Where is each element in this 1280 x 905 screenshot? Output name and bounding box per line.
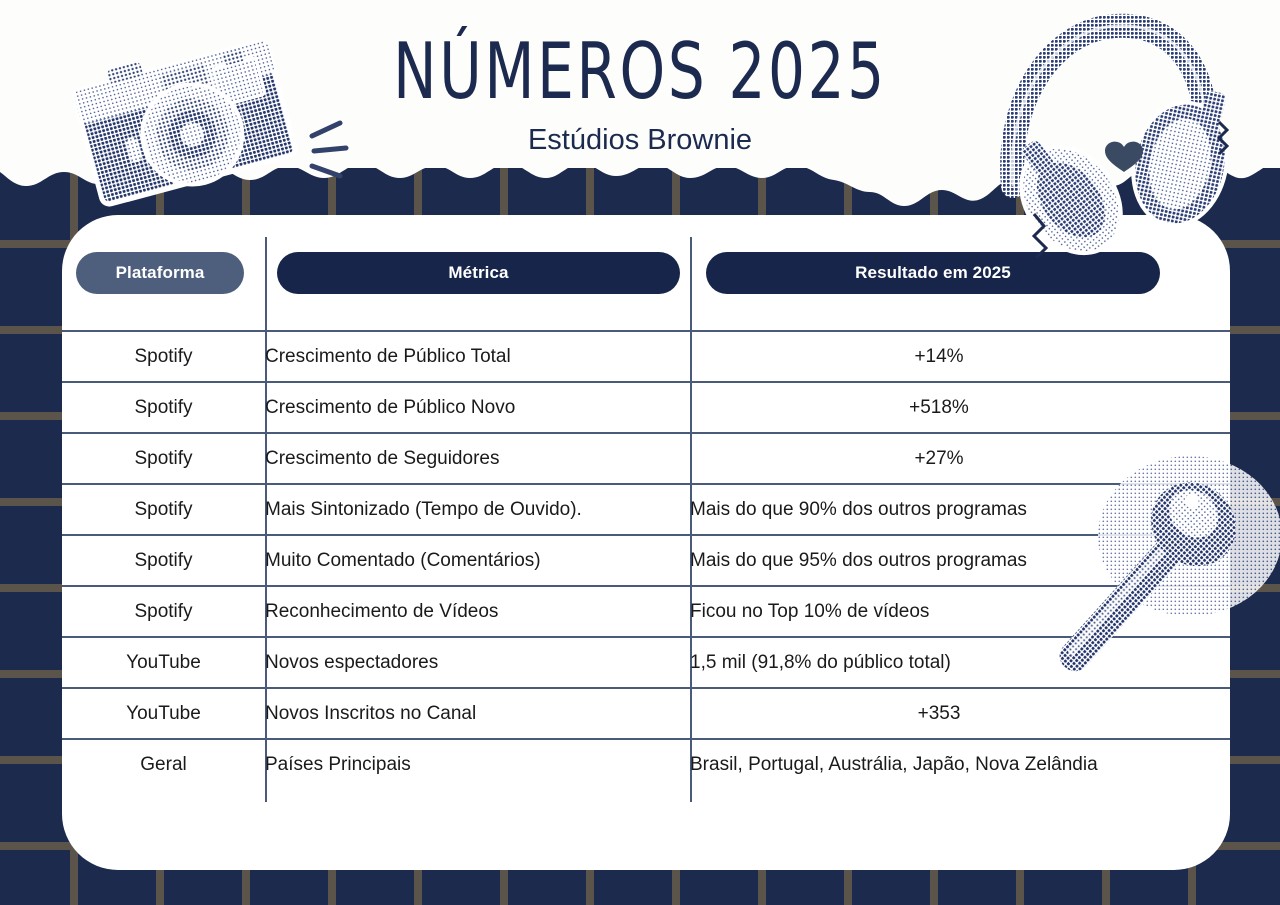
column-header-platform: Plataforma	[62, 215, 265, 331]
cell-result: +518%	[690, 382, 1230, 433]
cell-metric: Crescimento de Público Total	[265, 331, 690, 382]
table-row: YouTube Novos Inscritos no Canal +353	[62, 688, 1230, 739]
microphone-illustration	[1058, 440, 1280, 732]
table-row: Spotify Crescimento de Público Novo +518…	[62, 382, 1230, 433]
metrics-table: Plataforma Métrica Resultado em 2025 Spo…	[62, 215, 1230, 789]
cell-metric: Novos Inscritos no Canal	[265, 688, 690, 739]
cell-platform: Spotify	[62, 382, 265, 433]
table-row: YouTube Novos espectadores 1,5 mil (91,8…	[62, 637, 1230, 688]
cell-platform: Spotify	[62, 331, 265, 382]
cell-metric: Reconhecimento de Vídeos	[265, 586, 690, 637]
metric-pill: Métrica	[277, 252, 680, 294]
cell-platform: Spotify	[62, 484, 265, 535]
table-row: Spotify Mais Sintonizado (Tempo de Ouvid…	[62, 484, 1230, 535]
cell-result: Brasil, Portugal, Austrália, Japão, Nova…	[690, 739, 1230, 789]
poster-canvas: NÚMEROS 2025 Estúdios Brownie Plataforma…	[0, 0, 1280, 905]
cell-platform: Spotify	[62, 535, 265, 586]
table-body: Spotify Crescimento de Público Total +14…	[62, 331, 1230, 789]
cell-platform: Geral	[62, 739, 265, 789]
cell-platform: Spotify	[62, 586, 265, 637]
table-row: Spotify Muito Comentado (Comentários) Ma…	[62, 535, 1230, 586]
column-header-metric: Métrica	[265, 215, 690, 331]
headphones-illustration	[975, 4, 1240, 259]
cell-result: +14%	[690, 331, 1230, 382]
cell-platform: YouTube	[62, 637, 265, 688]
cell-metric: Muito Comentado (Comentários)	[265, 535, 690, 586]
table-row: Spotify Crescimento de Seguidores +27%	[62, 433, 1230, 484]
cell-metric: Crescimento de Público Novo	[265, 382, 690, 433]
cell-metric: Crescimento de Seguidores	[265, 433, 690, 484]
cell-metric: Mais Sintonizado (Tempo de Ouvido).	[265, 484, 690, 535]
metrics-table-wrap: Plataforma Métrica Resultado em 2025 Spo…	[62, 215, 1230, 870]
table-row: Spotify Reconhecimento de Vídeos Ficou n…	[62, 586, 1230, 637]
table-row: Spotify Crescimento de Público Total +14…	[62, 331, 1230, 382]
table-row: Geral Países Principais Brasil, Portugal…	[62, 739, 1230, 789]
cell-platform: YouTube	[62, 688, 265, 739]
platform-pill: Plataforma	[76, 252, 244, 294]
cell-platform: Spotify	[62, 433, 265, 484]
cell-metric: Países Principais	[265, 739, 690, 789]
camera-illustration	[62, 18, 352, 218]
cell-metric: Novos espectadores	[265, 637, 690, 688]
